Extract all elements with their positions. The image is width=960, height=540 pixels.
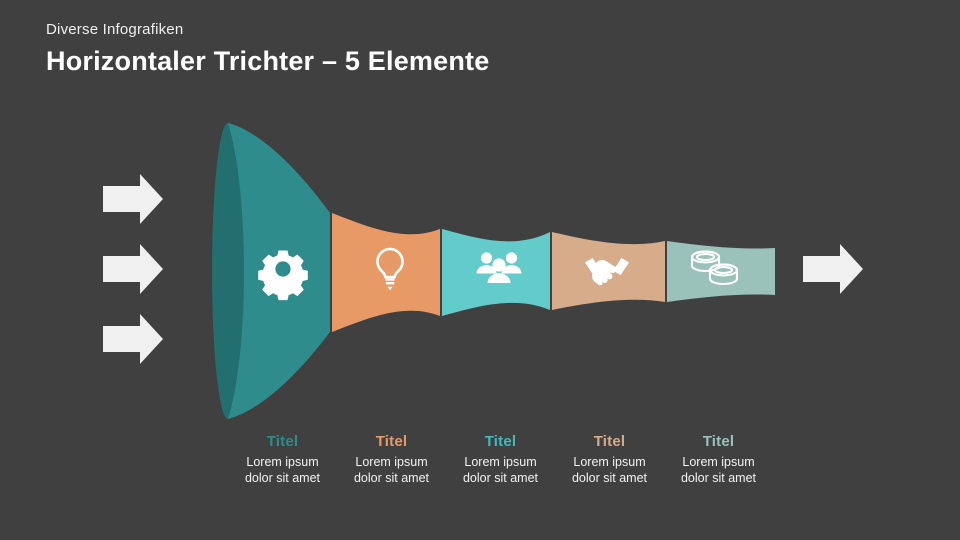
label-desc-line-2: dolor sit amet xyxy=(337,470,446,486)
gear-icon xyxy=(258,251,308,301)
input-arrow-3 xyxy=(103,314,163,364)
funnel-label-1: Titel Lorem ipsum dolor sit amet xyxy=(228,432,337,486)
input-arrow-2 xyxy=(103,244,163,294)
funnel-label-4: Titel Lorem ipsum dolor sit amet xyxy=(555,432,664,486)
funnel-label-3: Titel Lorem ipsum dolor sit amet xyxy=(446,432,555,486)
output-arrow-group xyxy=(803,244,863,294)
label-desc-line-1: Lorem ipsum xyxy=(664,454,773,470)
funnel-label-row: Titel Lorem ipsum dolor sit amet Titel L… xyxy=(228,432,824,486)
label-title-4: Titel xyxy=(555,432,664,451)
output-arrow-1 xyxy=(803,244,863,294)
label-desc-line-1: Lorem ipsum xyxy=(228,454,337,470)
label-desc-4: Lorem ipsum dolor sit amet xyxy=(555,454,664,486)
label-desc-1: Lorem ipsum dolor sit amet xyxy=(228,454,337,486)
label-desc-line-1: Lorem ipsum xyxy=(555,454,664,470)
label-desc-5: Lorem ipsum dolor sit amet xyxy=(664,454,773,486)
slide-canvas: Diverse Infografiken Horizontaler Tricht… xyxy=(0,0,960,540)
label-title-3: Titel xyxy=(446,432,555,451)
label-desc-line-2: dolor sit amet xyxy=(228,470,337,486)
funnel-segment-5 xyxy=(667,241,775,302)
funnel-label-2: Titel Lorem ipsum dolor sit amet xyxy=(337,432,446,486)
label-desc-line-1: Lorem ipsum xyxy=(446,454,555,470)
input-arrow-group xyxy=(103,174,163,364)
label-title-1: Titel xyxy=(228,432,337,451)
funnel-label-5: Titel Lorem ipsum dolor sit amet xyxy=(664,432,773,486)
label-desc-line-1: Lorem ipsum xyxy=(337,454,446,470)
funnel-segment-2 xyxy=(332,213,440,332)
label-desc-2: Lorem ipsum dolor sit amet xyxy=(337,454,446,486)
label-title-2: Titel xyxy=(337,432,446,451)
label-desc-line-2: dolor sit amet xyxy=(446,470,555,486)
label-title-5: Titel xyxy=(664,432,773,451)
label-desc-line-2: dolor sit amet xyxy=(555,470,664,486)
label-desc-line-2: dolor sit amet xyxy=(664,470,773,486)
label-desc-3: Lorem ipsum dolor sit amet xyxy=(446,454,555,486)
input-arrow-1 xyxy=(103,174,163,224)
